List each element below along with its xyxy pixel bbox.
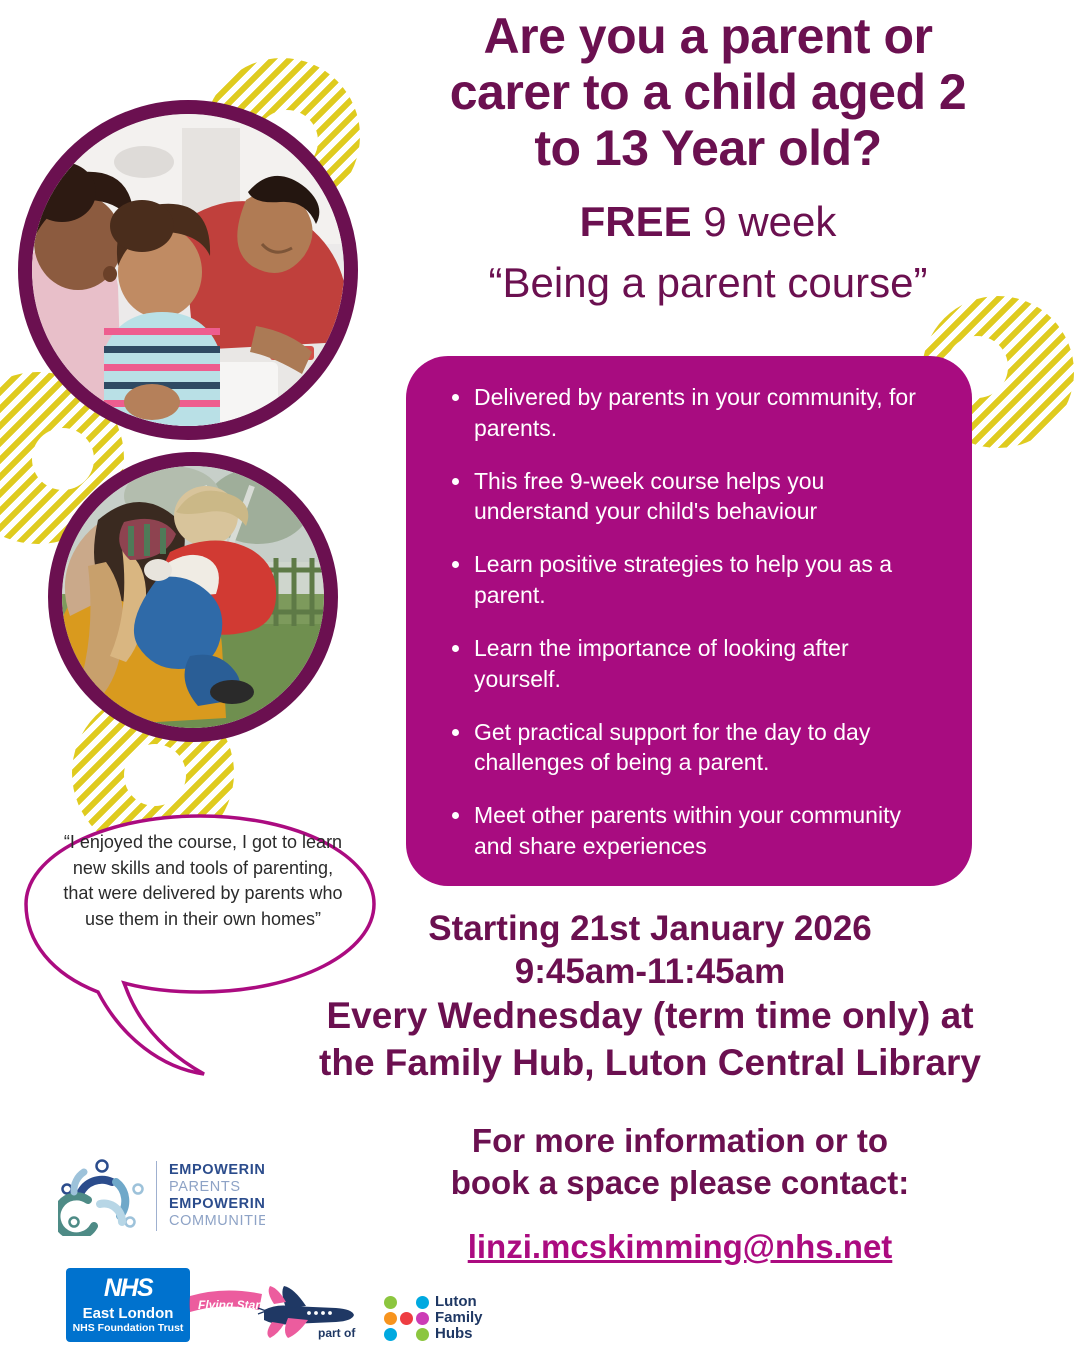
headline-line-3: to 13 Year old? [534,120,881,176]
nhs-east-london-logo: NHS East London NHS Foundation Trust [66,1268,190,1342]
epec-wordmark: EMPOWERIN PARENTS EMPOWERIN COMMUNITIE [169,1162,265,1230]
epec-line-2: PARENTS [169,1179,265,1196]
headline-line-1: Are you a parent or [484,8,933,64]
course-benefits-list: Delivered by parents in your community, … [440,382,938,862]
playground-photo-illustration [62,466,324,728]
epec-logo-divider [156,1161,157,1231]
list-item: Get practical support for the day to day… [440,717,938,779]
epec-logo: EMPOWERIN PARENTS EMPOWERIN COMMUNITIE [58,1150,306,1242]
luton-dot [384,1296,397,1309]
luton-dot-empty [400,1328,413,1341]
start-date: Starting 21st January 2026 [280,908,1020,951]
luton-dot [400,1312,413,1325]
luton-dot [384,1328,397,1341]
contact-cta-line-1: For more information or to [472,1122,888,1159]
flying-start-ribbon-text: Flying Start [198,1298,265,1312]
ring-hole [124,744,186,806]
list-item: Learn positive strategies to help you as… [440,549,938,611]
free-duration-line: FREE 9 week [378,198,1038,245]
course-benefits-card: Delivered by parents in your community, … [406,356,972,886]
family-at-table-photo [18,100,358,440]
session-time: 9:45am-11:45am [280,951,1020,994]
luton-dot [416,1312,429,1325]
session-location: the Family Hub, Luton Central Library [280,1040,1020,1086]
nhs-trust-region: East London [66,1305,190,1322]
luton-line-3: Hubs [435,1326,483,1342]
list-item: Delivered by parents in your community, … [440,382,938,444]
contact-cta: For more information or to book a space … [330,1120,1030,1204]
flying-start-logo: Flying Start part of [190,1282,365,1344]
contact-email-link[interactable]: linzi.mcskimming@nhs.net [330,1228,1030,1266]
luton-dot [384,1312,397,1325]
luton-dot-grid-icon [384,1296,429,1341]
course-title: “Being a parent course” [378,259,1038,306]
epec-line-1: EMPOWERIN [169,1162,265,1179]
luton-line-1: Luton [435,1294,483,1310]
nhs-wordmark: NHS [66,1276,190,1301]
headline-line-2: carer to a child aged 2 [450,64,966,120]
poster-canvas: Are you a parent or carer to a child age… [0,0,1080,1350]
session-frequency: Every Wednesday (term time only) at [280,993,1020,1039]
schedule-block: Starting 21st January 2026 9:45am-11:45a… [280,908,1020,1086]
list-item: Meet other parents within your community… [440,800,938,862]
epec-line-3: EMPOWERIN [169,1196,265,1213]
contact-cta-line-2: book a space please contact: [451,1164,910,1201]
page-title: Are you a parent or carer to a child age… [378,8,1038,176]
contact-block: For more information or to book a space … [330,1120,1030,1266]
headline-block: Are you a parent or carer to a child age… [378,8,1038,306]
luton-wordmark: Luton Family Hubs [435,1294,483,1343]
epec-logo-mark-icon [58,1156,150,1236]
free-label: FREE [580,198,692,245]
family-photo-illustration [32,114,344,426]
parent-holding-child-playground-photo [48,452,338,742]
luton-dot [416,1328,429,1341]
luton-family-hubs-logo: Luton Family Hubs [384,1292,496,1344]
list-item: This free 9-week course helps you unders… [440,466,938,528]
luton-dot [416,1296,429,1309]
luton-dot-empty [400,1296,413,1309]
list-item: Learn the importance of looking after yo… [440,633,938,695]
duration-label: 9 week [692,198,837,245]
part-of-label: part of [318,1326,355,1340]
nhs-trust-type: NHS Foundation Trust [66,1322,190,1334]
epec-line-4: COMMUNITIE [169,1213,265,1230]
luton-line-2: Family [435,1310,483,1326]
